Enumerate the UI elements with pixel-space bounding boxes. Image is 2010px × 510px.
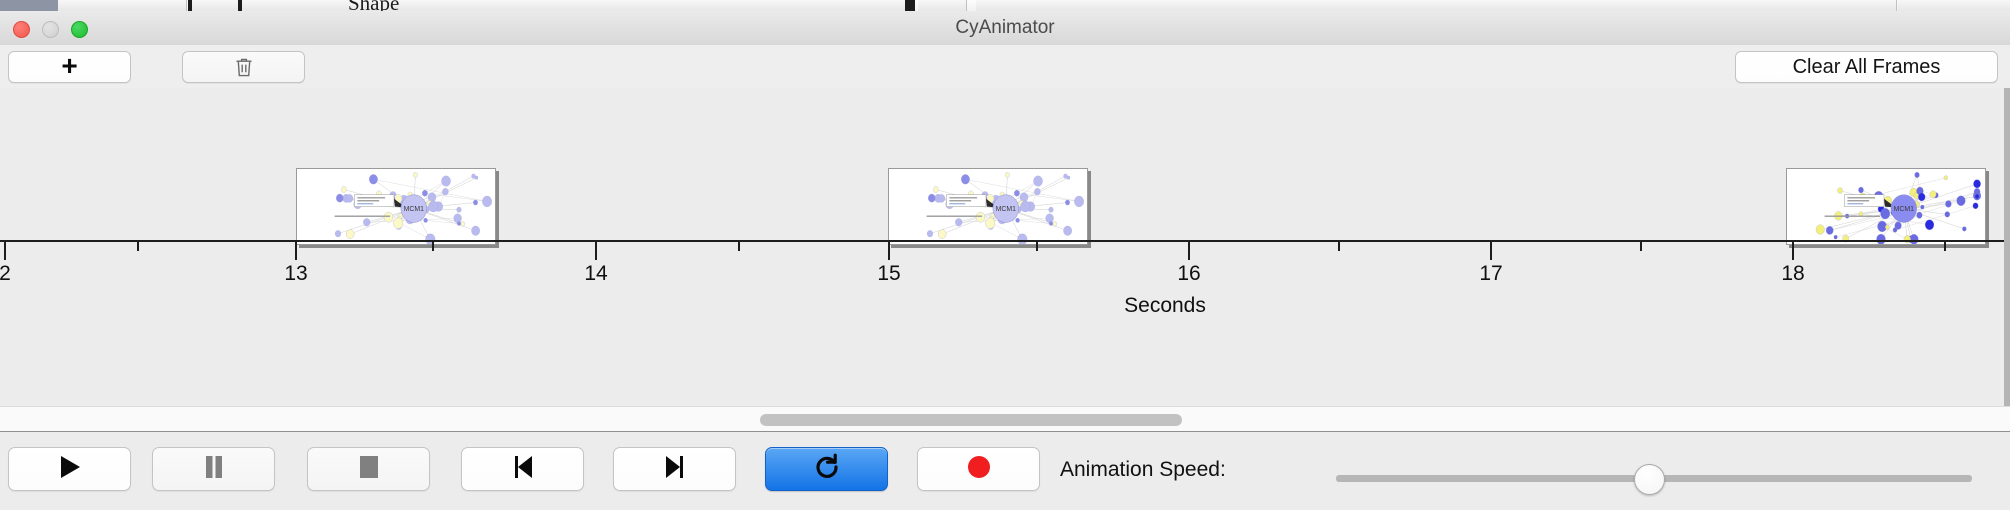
play-button[interactable] xyxy=(8,447,131,491)
vertical-scrollbar[interactable] xyxy=(2004,88,2010,406)
svg-text:MCM1: MCM1 xyxy=(404,206,424,213)
animation-speed-label: Animation Speed: xyxy=(1060,458,1226,482)
background-segment xyxy=(148,0,187,11)
timeline-tick xyxy=(295,242,297,260)
record-icon xyxy=(967,455,991,484)
slider-thumb[interactable] xyxy=(1634,464,1665,495)
background-segment xyxy=(976,0,1897,11)
skip-to-start-button[interactable] xyxy=(461,447,584,491)
window-title: CyAnimator xyxy=(0,11,2010,45)
timeline-frame-thumbnail[interactable]: MCM1 xyxy=(1786,168,1986,245)
timeline-tick-label: 13 xyxy=(284,262,307,286)
timeline-tick xyxy=(1640,242,1642,251)
timeline-tick xyxy=(595,242,597,260)
loop-button[interactable] xyxy=(765,447,888,491)
add-frame-button[interactable]: + xyxy=(8,51,131,83)
clear-all-frames-button[interactable]: Clear All Frames xyxy=(1735,51,1998,83)
timeline-tick xyxy=(137,242,139,251)
plus-icon: + xyxy=(61,52,77,80)
timeline-tick-label: 16 xyxy=(1177,262,1200,286)
background-segment xyxy=(58,0,149,11)
background-segment xyxy=(918,0,967,11)
background-mark xyxy=(905,0,915,11)
cyanimator-window: Shape CyAnimator + Clear All xyxy=(0,0,2010,510)
timeline-tick xyxy=(1338,242,1340,251)
timeline-tick-label: 17 xyxy=(1479,262,1502,286)
background-window-tab xyxy=(0,0,58,11)
delete-frame-button[interactable] xyxy=(182,51,305,83)
stop-icon xyxy=(358,455,380,484)
skip-to-end-button[interactable] xyxy=(613,447,736,491)
timeline-panel[interactable]: MCM1MCM1MCM1 2131415161718 Seconds xyxy=(0,88,2010,406)
timeline-scrollbar-thumb[interactable] xyxy=(760,414,1182,426)
loop-icon xyxy=(813,453,841,486)
toolbar: + Clear All Frames xyxy=(0,45,2010,89)
timeline-tick xyxy=(1792,242,1794,260)
timeline-tick-label: 18 xyxy=(1781,262,1804,286)
record-button[interactable] xyxy=(917,447,1040,491)
play-icon xyxy=(59,455,81,484)
timeline-tick xyxy=(738,242,740,251)
timeline-tick xyxy=(1490,242,1492,260)
timeline-axis-line xyxy=(0,240,2010,242)
background-segment xyxy=(192,0,239,11)
timeline-axis-title: Seconds xyxy=(1124,294,1206,318)
clear-all-frames-label: Clear All Frames xyxy=(1793,56,1941,79)
timeline-tick xyxy=(1188,242,1190,260)
pause-button[interactable] xyxy=(152,447,275,491)
timeline-tick xyxy=(1944,242,1946,251)
background-segment xyxy=(242,0,309,11)
trash-icon xyxy=(235,57,253,78)
svg-text:MCM1: MCM1 xyxy=(1894,206,1914,213)
stop-button[interactable] xyxy=(307,447,430,491)
svg-text:MCM1: MCM1 xyxy=(996,206,1016,213)
timeline-tick-label: 14 xyxy=(584,262,607,286)
title-bar[interactable]: CyAnimator xyxy=(0,11,2010,46)
timeline-tick xyxy=(4,242,6,260)
timeline-frame-thumbnail[interactable]: MCM1 xyxy=(888,168,1088,245)
pause-icon xyxy=(204,455,224,484)
timeline-tick xyxy=(432,242,434,251)
timeline-scrollbar[interactable] xyxy=(0,406,2010,432)
background-segment xyxy=(1898,0,2010,11)
timeline-tick xyxy=(1036,242,1038,251)
animation-speed-slider[interactable] xyxy=(1336,464,1972,494)
timeline-tick-label: 2 xyxy=(0,262,11,286)
playback-controls: Animation Speed: xyxy=(0,432,2010,510)
timeline-tick-label: 15 xyxy=(877,262,900,286)
skip-start-icon xyxy=(512,455,534,484)
timeline-tick xyxy=(888,242,890,260)
skip-end-icon xyxy=(664,455,686,484)
timeline-frame-thumbnail[interactable]: MCM1 xyxy=(296,168,496,245)
